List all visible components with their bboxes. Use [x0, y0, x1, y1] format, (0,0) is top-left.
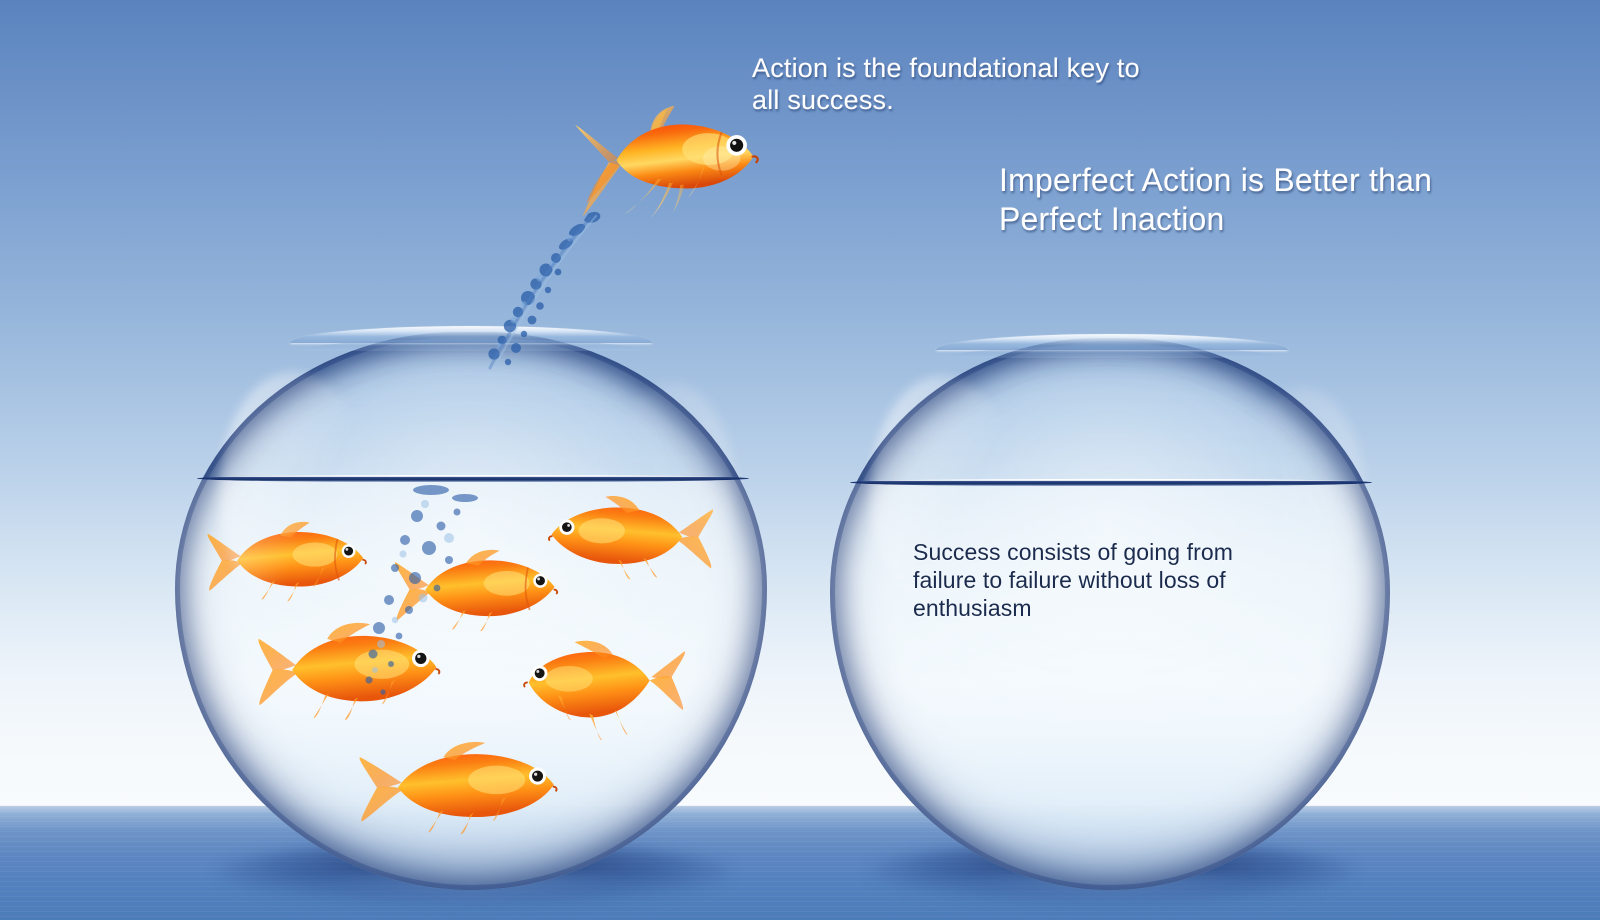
quote-imperfect-action-text: Imperfect Action is Better than Perfect … — [999, 161, 1432, 239]
quote-success-text: Success consists of going from failure t… — [913, 538, 1233, 622]
jumping-goldfish — [570, 104, 770, 226]
right-bowl-water-line — [850, 479, 1372, 486]
goldfish-center-lower — [257, 620, 452, 724]
goldfish-left-upper — [205, 520, 380, 602]
goldfish-right-lower — [525, 638, 690, 748]
goldfish-bottom — [355, 740, 570, 835]
quote-action-text: Action is the foundational key to all su… — [752, 52, 1140, 116]
left-bowl — [175, 332, 767, 890]
goldfish-right-upper — [535, 495, 715, 580]
poster-canvas: Action is the foundational key to all su… — [0, 0, 1600, 920]
left-bowl-glass — [175, 332, 767, 890]
left-bowl-water-line — [197, 475, 749, 482]
